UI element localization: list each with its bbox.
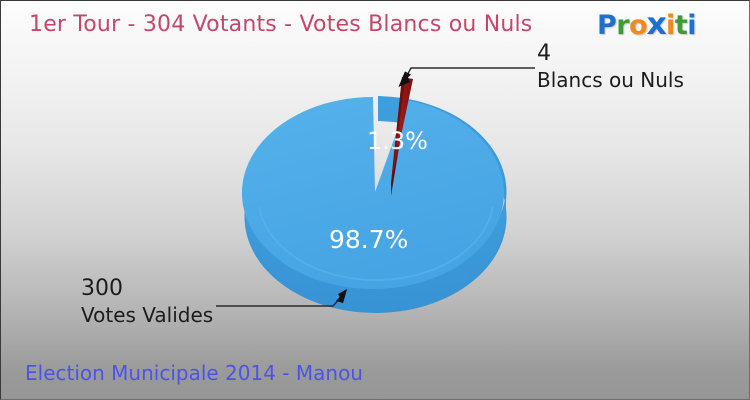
logo-letter-i-second: i	[687, 12, 696, 39]
callout-blancs-ou-nuls: 4 Blancs ou Nuls	[537, 41, 684, 93]
logo-letter-r: r	[616, 12, 629, 39]
pie-chart-figure: 1er Tour - 304 Votants - Votes Blancs ou…	[0, 0, 750, 400]
callout-votes-valides: 300 Votes Valides	[81, 276, 213, 328]
logo-letter-i-first: i	[666, 12, 675, 39]
logo-letter-x-icon: x	[647, 10, 667, 40]
slice-percent-blancs-ou-nuls: 1.3%	[367, 127, 428, 155]
logo-letter-o: o	[629, 12, 647, 39]
callout-valides-label: Votes Valides	[81, 302, 213, 328]
logo-letter-p: P	[597, 12, 616, 39]
callout-valides-value: 300	[81, 276, 213, 302]
chart-title: 1er Tour - 304 Votants - Votes Blancs ou…	[29, 12, 532, 37]
slice-percent-votes-valides: 98.7%	[329, 225, 408, 254]
leader-line-blancs-ou-nuls	[399, 68, 536, 87]
callout-blancs-value: 4	[537, 41, 684, 67]
chart-footer-caption: Election Municipale 2014 - Manou	[25, 361, 363, 385]
leader-line-votes-valides	[216, 289, 347, 306]
logo-letter-t: t	[675, 12, 687, 39]
callout-blancs-label: Blancs ou Nuls	[537, 67, 684, 93]
proxiti-logo[interactable]: Proxiti	[597, 10, 696, 40]
